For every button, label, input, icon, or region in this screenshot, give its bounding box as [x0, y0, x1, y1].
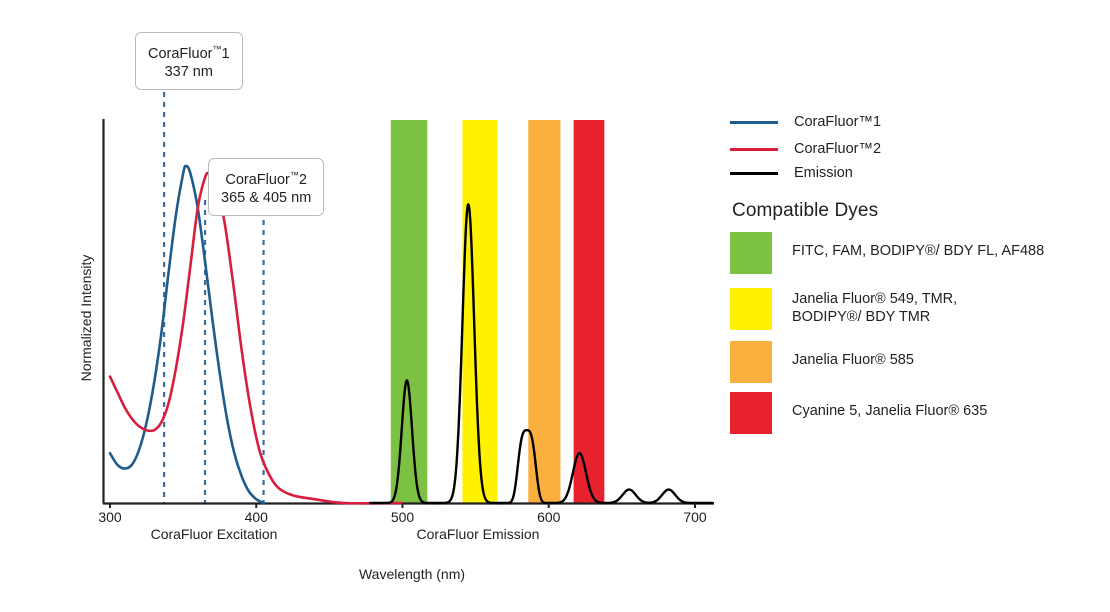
y-axis-title: Normalized Intensity — [78, 228, 94, 408]
curve-corafluor-2 — [110, 173, 403, 503]
dye-label-2: Janelia Fluor® 585 — [792, 341, 914, 369]
legend-curve-label-2: Emission — [794, 165, 853, 181]
x-axis-title: Wavelength (nm) — [359, 566, 465, 582]
callout-corafluor-2: CoraFluor™2 365 & 405 nm — [208, 158, 324, 216]
x-tick-label-300: 300 — [98, 509, 121, 525]
callout-cf2-line1: CoraFluor™2 — [221, 166, 311, 189]
compatible-dyes-heading: Compatible Dyes — [732, 200, 878, 222]
dye-label-0: FITC, FAM, BODIPY®/ BDY FL, AF488 — [792, 232, 1044, 260]
callout-cf1-line1: CoraFluor™1 — [148, 40, 230, 63]
dye-label-3: Cyanine 5, Janelia Fluor® 635 — [792, 392, 987, 420]
emission-bands-group — [391, 120, 605, 503]
legend-curve-row-2: Emission — [730, 165, 853, 181]
legend-curve-swatch-2 — [730, 172, 778, 175]
callout-cf1-line2: 337 nm — [148, 63, 230, 81]
legend-curve-swatch-1 — [730, 148, 778, 151]
x-tick-label-700: 700 — [683, 509, 706, 525]
chart-root: CoraFluor™1 337 nm CoraFluor™2 365 & 405… — [0, 0, 1110, 612]
legend-curve-swatch-0 — [730, 121, 778, 124]
legend-curve-row-0: CoraFluor™1 — [730, 114, 881, 130]
dye-swatch-1 — [730, 288, 772, 330]
callout-corafluor-1: CoraFluor™1 337 nm — [135, 32, 243, 90]
dye-label-1: Janelia Fluor® 549, TMR, BODIPY®/ BDY TM… — [792, 288, 957, 326]
legend-panel: CoraFluor™1CoraFluor™2Emission Compatibl… — [730, 0, 1110, 612]
legend-curve-label-0: CoraFluor™1 — [794, 114, 881, 130]
dye-swatch-2 — [730, 341, 772, 383]
legend-curve-row-1: CoraFluor™2 — [730, 141, 881, 157]
dye-legend-row-0: FITC, FAM, BODIPY®/ BDY FL, AF488 — [730, 232, 1044, 274]
axis-sublabel-excitation: CoraFluor Excitation — [151, 526, 278, 542]
plot-area: CoraFluor™1 337 nm CoraFluor™2 365 & 405… — [0, 0, 730, 612]
x-tick-label-400: 400 — [245, 509, 268, 525]
emission-band-3 — [574, 120, 605, 503]
callout-cf2-line2: 365 & 405 nm — [221, 189, 311, 207]
x-tick-label-500: 500 — [391, 509, 414, 525]
dye-swatch-3 — [730, 392, 772, 434]
legend-curve-label-1: CoraFluor™2 — [794, 141, 881, 157]
dye-swatch-0 — [730, 232, 772, 274]
x-tick-label-600: 600 — [537, 509, 560, 525]
excitation-marker-lines-group — [164, 92, 263, 503]
dye-legend-row-3: Cyanine 5, Janelia Fluor® 635 — [730, 392, 987, 434]
dye-legend-row-2: Janelia Fluor® 585 — [730, 341, 914, 383]
dye-legend-row-1: Janelia Fluor® 549, TMR, BODIPY®/ BDY TM… — [730, 288, 957, 330]
emission-band-0 — [391, 120, 428, 503]
axis-sublabel-emission: CoraFluor Emission — [417, 526, 540, 542]
